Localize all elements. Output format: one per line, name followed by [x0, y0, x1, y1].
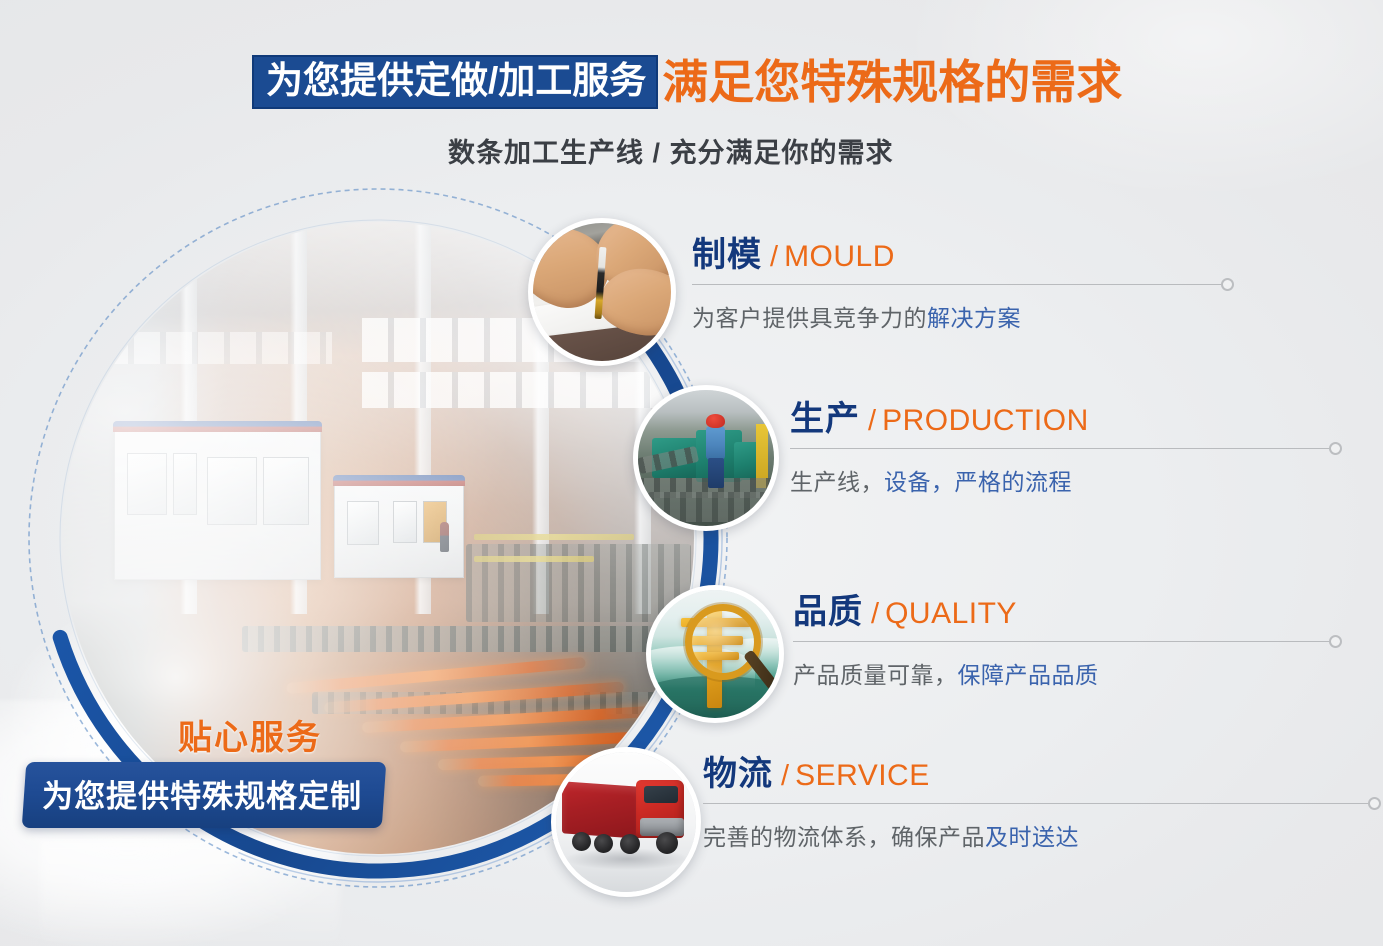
header-highlight: 满足您特殊规格的需求	[662, 59, 1122, 105]
feature-title-separator: /	[868, 405, 876, 437]
feature-description: 产品质量可靠，保障产品品质	[793, 656, 1336, 690]
mould-photo-icon	[528, 218, 676, 366]
feature-rule	[790, 448, 1336, 449]
feature-description-highlight: 及时送达	[985, 824, 1079, 850]
quality-photo-icon	[646, 585, 784, 723]
feature-title-mould: 制模/MOULD	[692, 238, 1228, 272]
feature-title-en: QUALITY	[885, 597, 1017, 630]
feature-description-plain: 为客户提供具竞争力的	[692, 305, 927, 331]
feature-title-cn: 物流	[703, 755, 773, 793]
header-badge: 为您提供定做/加工服务	[252, 55, 658, 109]
feature-item-mould: 制模/MOULD 为客户提供具竞争力的解决方案	[692, 238, 1228, 333]
feature-description-highlight: 解决方案	[927, 305, 1021, 331]
feature-description: 为客户提供具竞争力的解决方案	[692, 299, 1228, 333]
service-callout-banner: 为您提供特殊规格定制	[22, 762, 387, 828]
header-subtitle: 数条加工生产线 / 充分满足你的需求	[448, 131, 894, 170]
feature-description: 完善的物流体系，确保产品及时送达	[703, 818, 1375, 852]
feature-title-separator: /	[781, 760, 789, 792]
feature-description-highlight: 设备，严格的流程	[884, 469, 1072, 495]
feature-item-quality: 品质/QUALITY 产品质量可靠，保障产品品质	[793, 595, 1336, 690]
feature-title-cn: 品质	[793, 593, 863, 631]
feature-title-separator: /	[770, 241, 778, 273]
feature-item-service: 物流/SERVICE 完善的物流体系，确保产品及时送达	[703, 757, 1375, 852]
service-photo-icon	[551, 747, 701, 897]
feature-title-separator: /	[871, 598, 879, 630]
feature-description: 生产线，设备，严格的流程	[790, 463, 1336, 497]
feature-description-plain: 生产线，	[790, 469, 884, 495]
feature-description-highlight: 保障产品品质	[958, 662, 1099, 688]
feature-endpoint-dot	[1329, 442, 1342, 455]
feature-endpoint-dot	[1329, 635, 1342, 648]
production-photo-icon	[633, 385, 779, 531]
feature-title-cn: 生产	[790, 400, 860, 438]
feature-title-quality: 品质/QUALITY	[793, 595, 1336, 629]
feature-rule	[692, 284, 1228, 285]
feature-endpoint-dot	[1221, 278, 1234, 291]
service-callout-banner-text: 为您提供特殊规格定制	[42, 771, 362, 816]
feature-title-en: MOULD	[784, 240, 895, 273]
page-title: 为您提供定做/加工服务 满足您特殊规格的需求	[252, 55, 1122, 109]
feature-rule	[703, 803, 1375, 804]
feature-title-production: 生产/PRODUCTION	[790, 402, 1336, 436]
feature-title-cn: 制模	[692, 236, 762, 274]
feature-rule	[793, 641, 1336, 642]
feature-item-production: 生产/PRODUCTION 生产线，设备，严格的流程	[790, 402, 1336, 497]
feature-title-service: 物流/SERVICE	[703, 757, 1375, 791]
banner-stage: 为您提供定做/加工服务 满足您特殊规格的需求 数条加工生产线 / 充分满足你的需…	[0, 0, 1383, 946]
feature-title-en: PRODUCTION	[882, 404, 1089, 437]
feature-endpoint-dot	[1368, 797, 1381, 810]
feature-description-plain: 完善的物流体系，确保产品	[703, 824, 985, 850]
feature-title-en: SERVICE	[795, 759, 930, 792]
feature-description-plain: 产品质量可靠，	[793, 662, 958, 688]
service-callout-title: 贴心服务	[178, 710, 322, 759]
